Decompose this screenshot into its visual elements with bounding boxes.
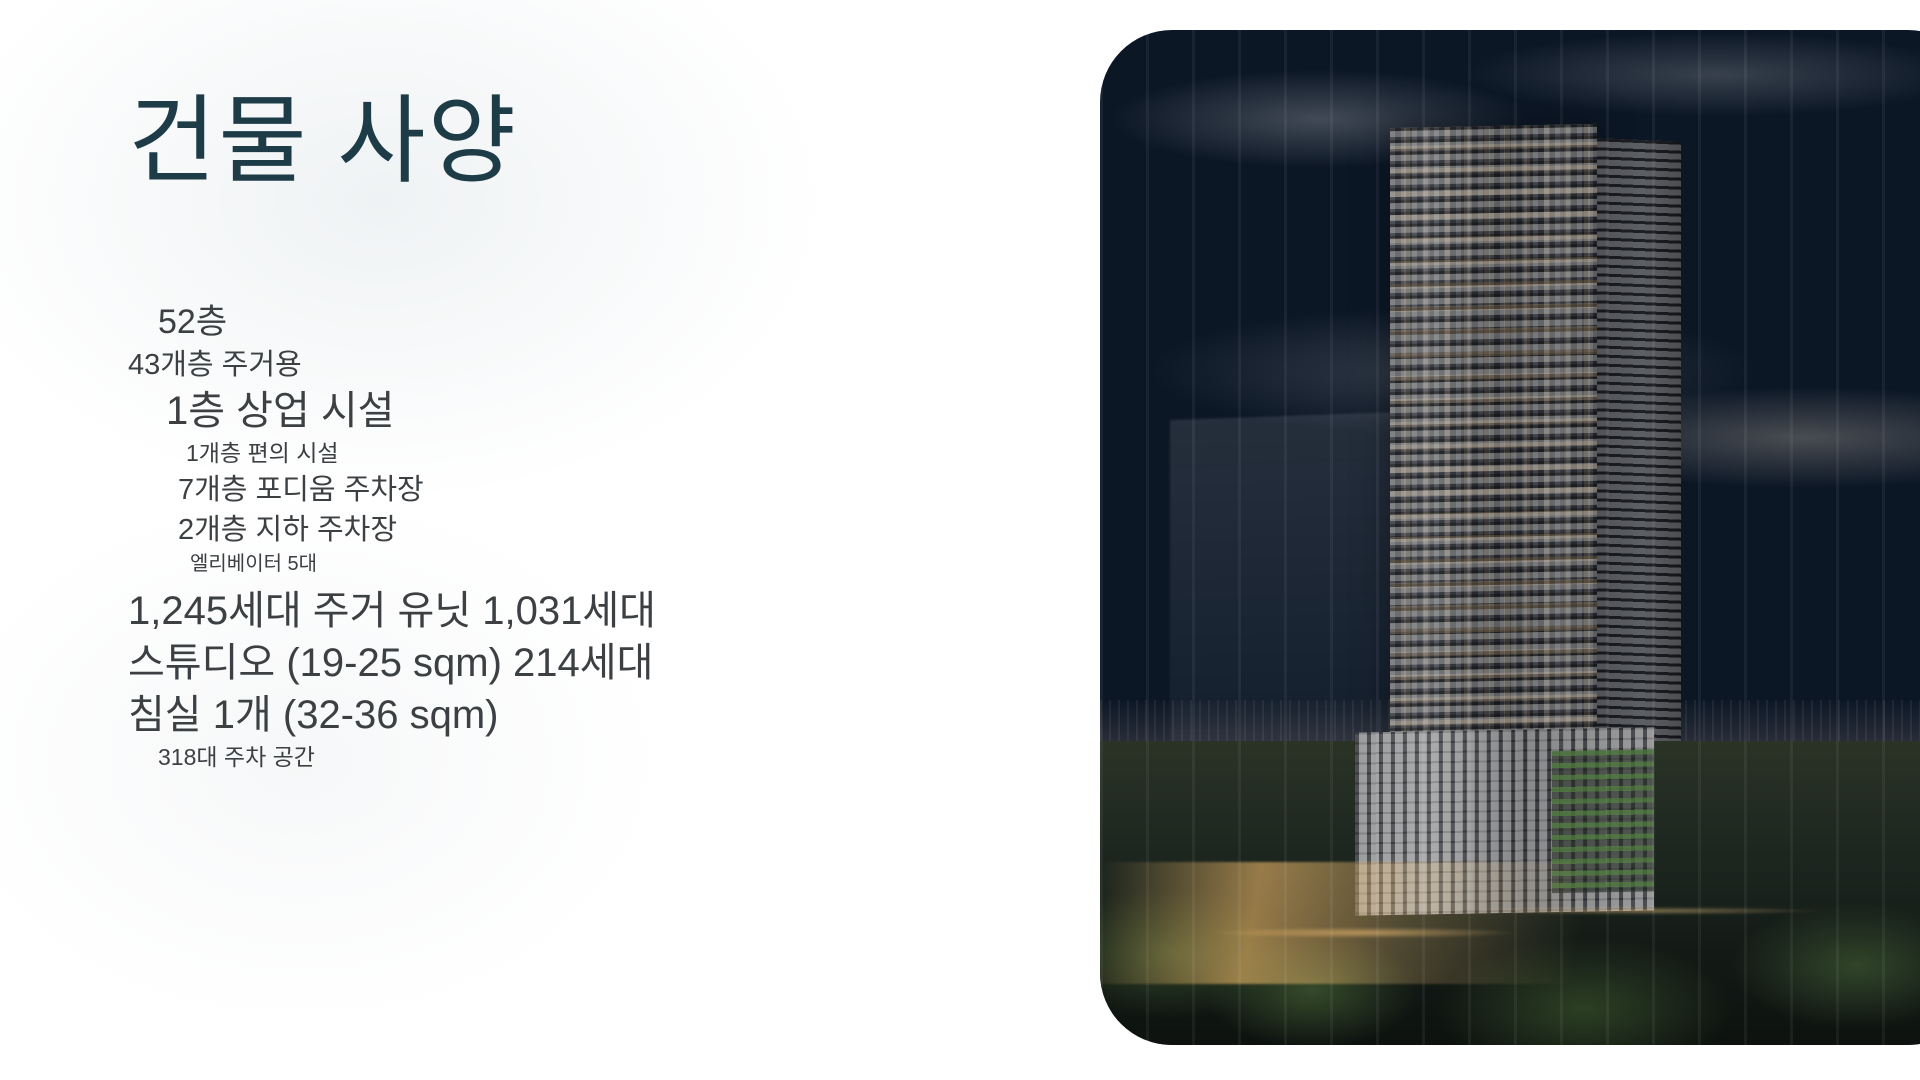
spec-item-retail-floor: 1층 상업 시설 — [0, 385, 1060, 437]
spec-item-podium-parking: 7개층 포디움 주차장 — [0, 470, 1060, 510]
spec-text-column: 건물 사양 52층 43개층 주거용 1층 상업 시설 1개층 편의 시설 7개… — [0, 0, 1060, 1080]
spec-item-total-floors: 52층 — [0, 300, 1060, 345]
spec-list: 52층 43개층 주거용 1층 상업 시설 1개층 편의 시설 7개층 포디움 … — [0, 300, 1060, 774]
street-lighting — [1100, 862, 1920, 984]
main-tower — [1390, 124, 1597, 819]
spec-item-residential-floors: 43개층 주거용 — [0, 345, 1060, 385]
hero-image-content — [1100, 30, 1920, 1045]
unit-mix-line-studio: 스튜디오 (19-25 sqm) 214세대 — [128, 637, 1060, 689]
tower-side-face — [1597, 138, 1681, 811]
hero-building-image — [1100, 30, 1920, 1045]
spec-item-parking-spaces: 318대 주차 공간 — [0, 741, 1060, 774]
unit-mix-line-total: 1,245세대 주거 유닛 1,031세대 — [128, 585, 1060, 637]
spec-item-elevators: 엘리베이터 5대 — [0, 550, 1060, 579]
spec-item-unit-mix: 1,245세대 주거 유닛 1,031세대 스튜디오 (19-25 sqm) 2… — [0, 579, 1060, 741]
unit-mix-line-one-bedroom: 침실 1개 (32-36 sqm) — [128, 689, 1060, 741]
page-title: 건물 사양 — [128, 92, 518, 193]
spec-item-amenity-floor: 1개층 편의 시설 — [0, 437, 1060, 470]
spec-item-basement-parking: 2개층 지하 주차장 — [0, 510, 1060, 550]
slide-canvas: 건물 사양 52층 43개층 주거용 1층 상업 시설 1개층 편의 시설 7개… — [0, 0, 1920, 1080]
